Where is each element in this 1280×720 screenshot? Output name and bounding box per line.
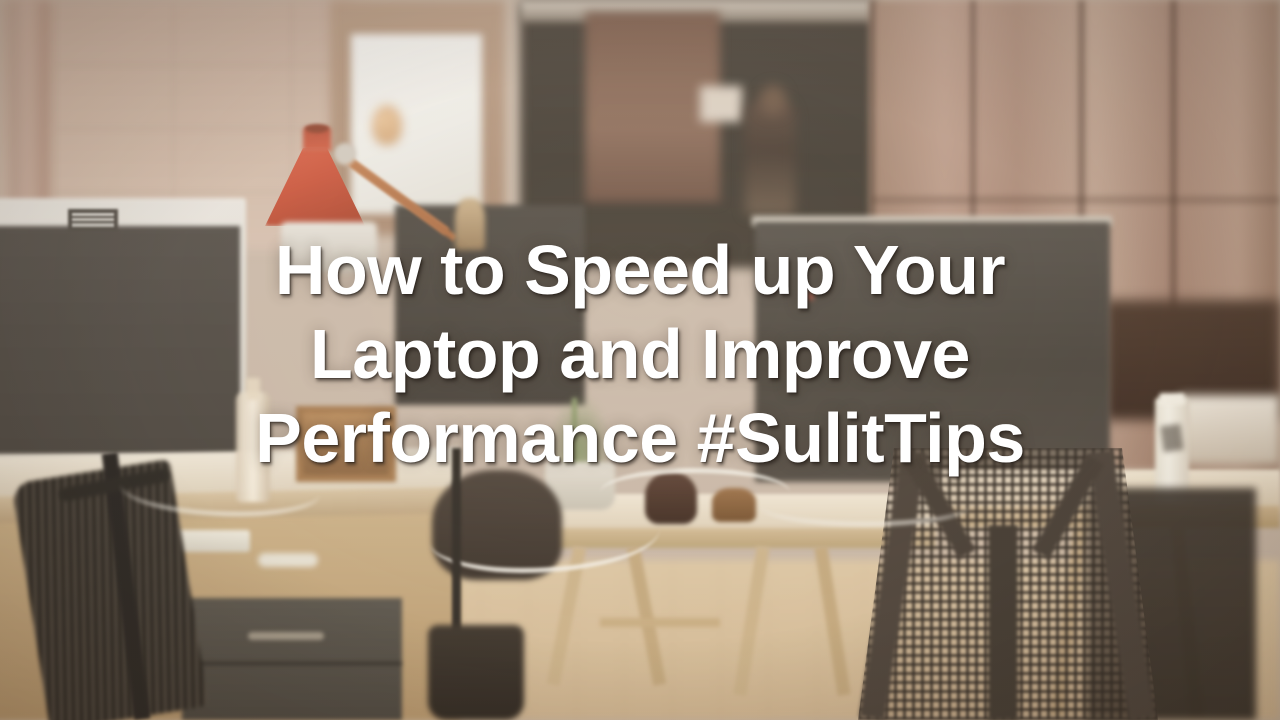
cabinet-handle (248, 632, 324, 640)
monitor-sticker-text (72, 213, 114, 227)
center-monitor (395, 205, 585, 405)
stacked-books (1180, 395, 1280, 465)
pendant-lamp (372, 105, 402, 145)
mouse (258, 553, 318, 567)
right-monitor (755, 222, 1110, 482)
desk-ornament (455, 198, 485, 250)
cabinet-drawer-gap (182, 662, 402, 665)
left-monitor-screen (0, 226, 240, 454)
carton-cap (1159, 393, 1185, 405)
window-glass (351, 34, 482, 214)
trestle-crossbar (600, 618, 720, 627)
plant-leaves (548, 392, 612, 470)
person-head (760, 85, 786, 115)
floor-stand-pole (452, 448, 461, 648)
waste-bin (428, 625, 524, 720)
glass-bottle-neck (246, 378, 260, 400)
office-photo-background (0, 0, 1280, 720)
person-silhouette (745, 100, 795, 215)
desk-cable (760, 486, 970, 526)
filing-cabinet (182, 598, 402, 720)
carton-logo (1160, 424, 1183, 453)
monitor-indicator-light (806, 292, 814, 300)
plant-stem (572, 398, 577, 468)
chair-center-spine (988, 525, 1018, 720)
lamp-cap-top (305, 124, 329, 133)
lamp-base (281, 222, 377, 272)
lamp-joint (334, 143, 356, 165)
featured-image-banner: How to Speed up Your Laptop and Improve … (0, 0, 1280, 720)
wall-poster (700, 86, 742, 122)
